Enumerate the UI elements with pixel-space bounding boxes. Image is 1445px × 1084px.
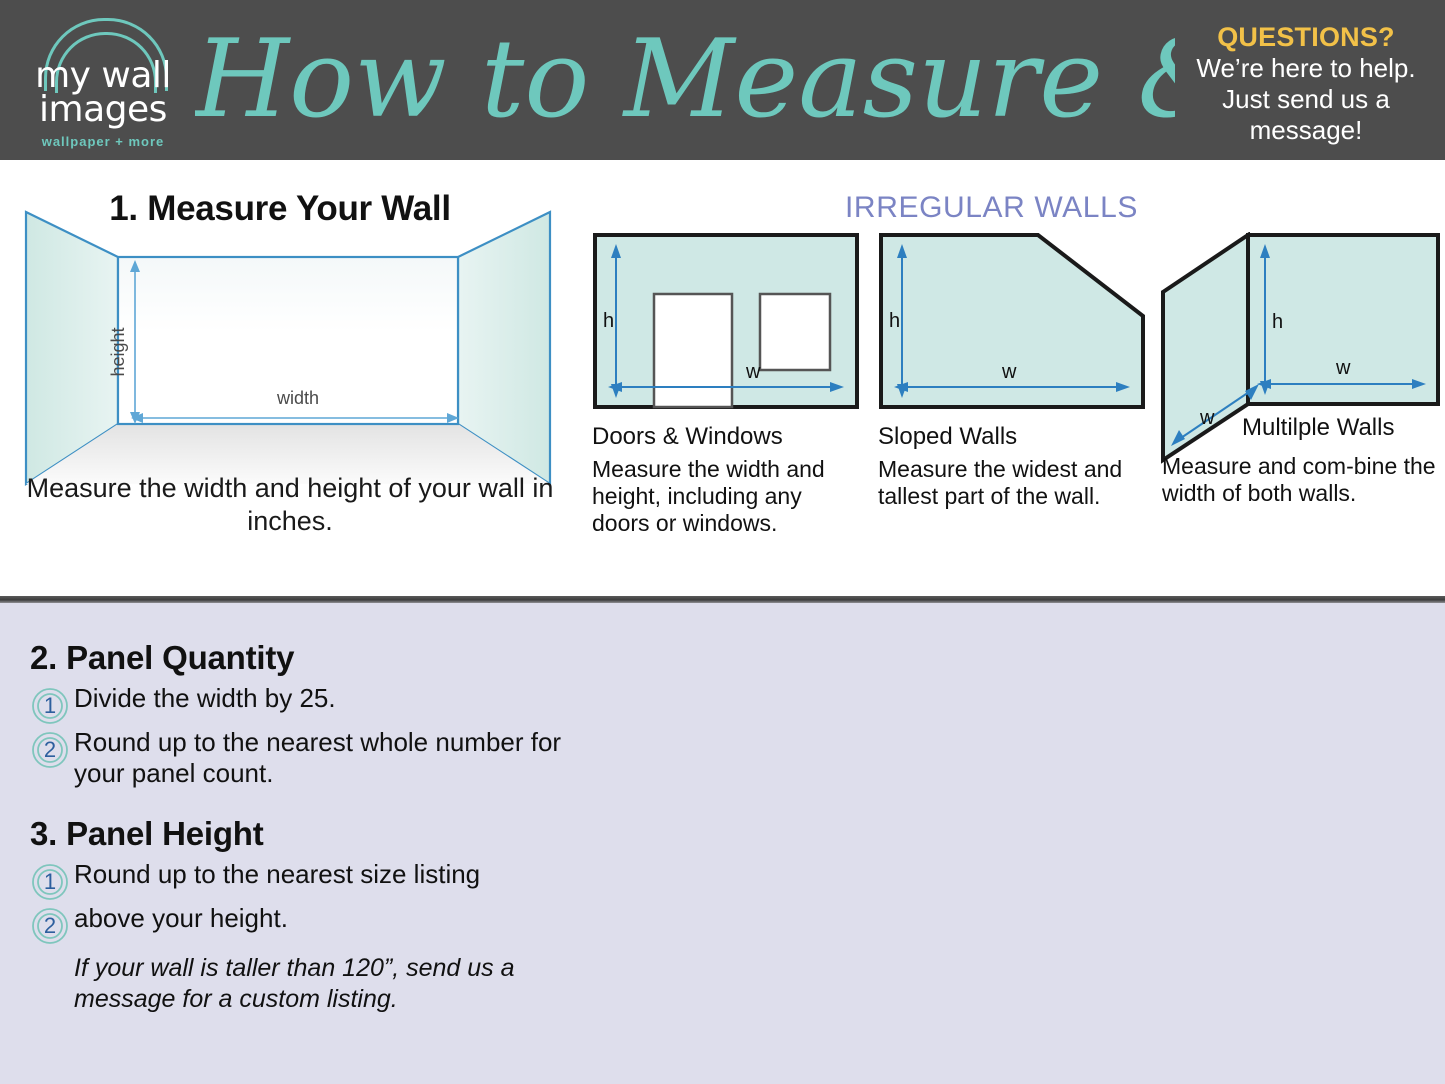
svg-text:w: w [1335, 357, 1351, 379]
svg-text:w: w [1199, 407, 1215, 429]
step-text: Round up to the nearest size listing [70, 859, 480, 890]
height-label: height [108, 327, 128, 376]
irregular-walls-heading: IRREGULAR WALLS [845, 191, 1138, 225]
svg-text:w: w [1001, 361, 1017, 383]
irregular-item-multiple-walls: h w w [1160, 232, 1445, 487]
questions-body: We’re here to help. Just send us a messa… [1181, 53, 1431, 146]
multiple-walls-diagram: h w w [1160, 232, 1445, 482]
page-title-text: How to Measure & Order [195, 17, 1175, 142]
infographic-page: my wall images wallpaper + more How to M… [0, 0, 1445, 1084]
room-diagram: height width [18, 192, 558, 487]
irregular-item-desc: Measure the width and height, including … [592, 456, 864, 537]
step-item: 2 Round up to the nearest whole number f… [30, 727, 600, 789]
panel-height-heading: 3. Panel Height [30, 815, 600, 853]
brand-logo: my wall images wallpaper + more [18, 14, 188, 148]
irregular-item-name: Sloped Walls [878, 423, 1150, 451]
logo-line-2: images [18, 92, 188, 128]
step-number: 1 [30, 687, 70, 725]
circle-number-icon: 2 [30, 731, 70, 769]
doors-windows-diagram: h w [592, 232, 860, 412]
section-divider [0, 596, 1445, 603]
questions-heading: QUESTIONS? [1181, 22, 1431, 52]
irregular-item-desc: Measure the widest and tallest part of t… [878, 456, 1150, 510]
section1-caption: Measure the width and height of your wal… [10, 472, 570, 538]
steps-column: 2. Panel Quantity 1 Divide the width by … [30, 639, 600, 1015]
svg-text:h: h [1272, 311, 1283, 333]
svg-text:h: h [889, 310, 900, 332]
irregular-item-name: Doors & Windows [592, 423, 864, 451]
svg-text:h: h [603, 310, 614, 332]
bottom-section: 2. Panel Quantity 1 Divide the width by … [0, 603, 1445, 1084]
width-label: width [276, 388, 319, 408]
panel-quantity-heading: 2. Panel Quantity [30, 639, 600, 677]
logo-tagline: wallpaper + more [18, 134, 188, 149]
step-number: 1 [30, 863, 70, 901]
step-number: 2 [30, 907, 70, 945]
sloped-wall-diagram: h w [878, 232, 1146, 412]
measure-wall-section: height width 1. Measure Your Wall Measur… [0, 160, 585, 596]
irregular-item-sloped-walls: h w Sloped Walls Measure the widest and … [878, 232, 1150, 510]
irregular-item-name: Multilple Walls [1242, 414, 1394, 442]
page-title: How to Measure & Order [195, 12, 1175, 152]
circle-number-icon: 1 [30, 863, 70, 901]
circle-number-icon: 2 [30, 907, 70, 945]
step-number: 2 [30, 731, 70, 769]
questions-block: QUESTIONS? We’re here to help. Just send… [1181, 22, 1431, 146]
irregular-item-doors-windows: h w Doors & Windows Measure the width an… [592, 232, 864, 537]
step-text: Divide the width by 25. [70, 683, 336, 714]
header-bar: my wall images wallpaper + more How to M… [0, 0, 1445, 160]
irregular-item-desc: Measure and com-bine the width of both w… [1162, 453, 1445, 507]
step-item: 1 Round up to the nearest size listing [30, 859, 600, 901]
step-text: Round up to the nearest whole number for… [70, 727, 600, 789]
step-item: 2 above your height. [30, 903, 600, 945]
step-item: 1 Divide the width by 25. [30, 683, 600, 725]
step-text: above your height. [70, 903, 288, 934]
section1-title: 1. Measure Your Wall [0, 189, 560, 229]
svg-text:w: w [745, 361, 761, 383]
circle-number-icon: 1 [30, 687, 70, 725]
panel-height-note: If your wall is taller than 120”, send u… [30, 953, 600, 1015]
